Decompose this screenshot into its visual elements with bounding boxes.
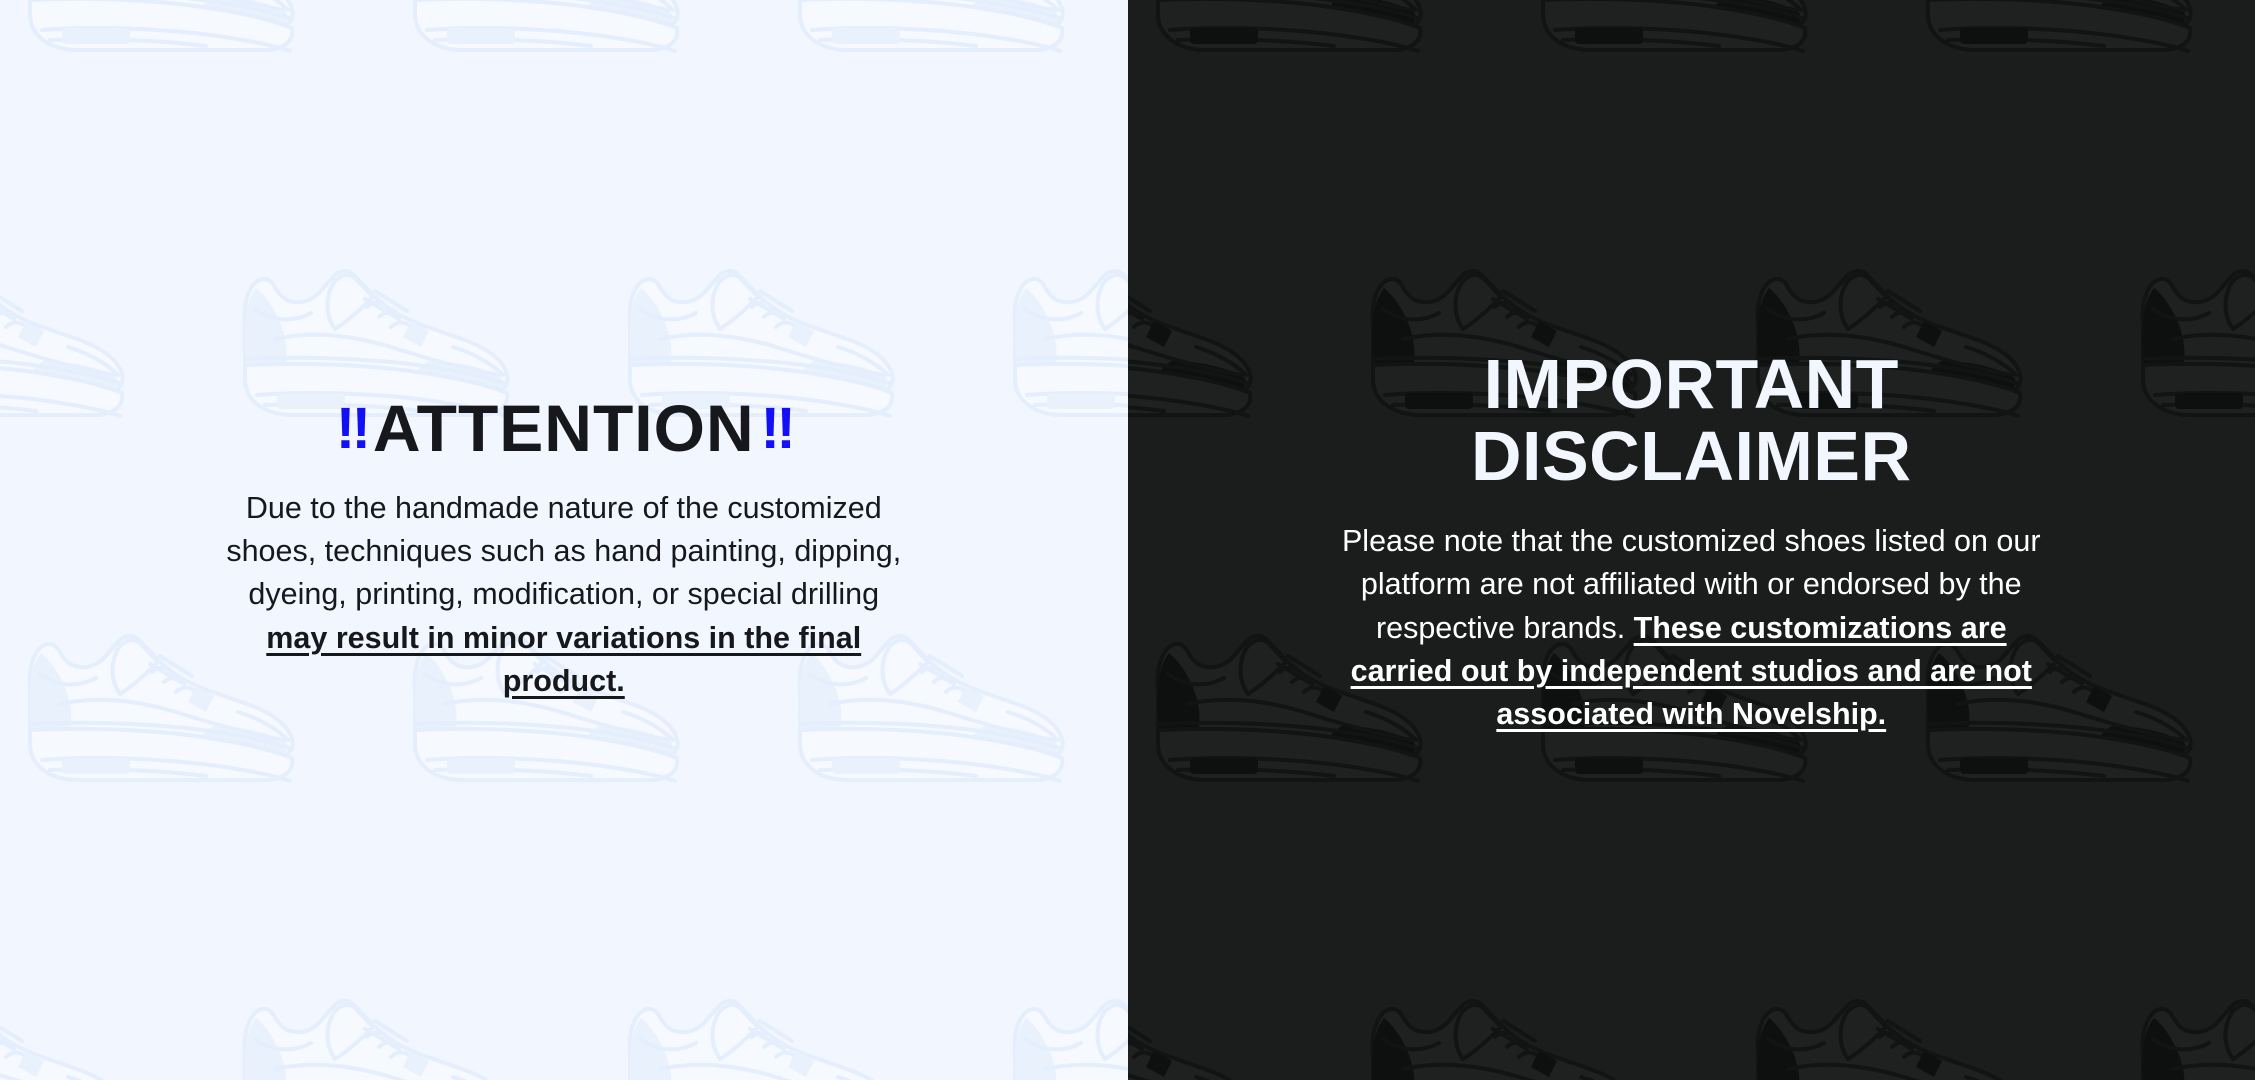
attention-heading: ‼ATTENTION‼: [0, 395, 1128, 461]
disclaimer-content: IMPORTANT DISCLAIMER Please note that th…: [1128, 343, 2255, 736]
attention-body: Due to the handmade nature of the custom…: [214, 487, 914, 703]
sneaker-icon: [770, 0, 1100, 85]
disclaimer-heading: IMPORTANT DISCLAIMER: [1371, 349, 2011, 492]
sneaker-icon: [215, 965, 545, 1080]
disclaimer-heading-line2: DISCLAIMER: [1471, 417, 1912, 495]
double-exclamation-icon-left: ‼: [330, 396, 373, 461]
attention-content: ‼ATTENTION‼ Due to the handmade nature o…: [0, 377, 1128, 703]
sneaker-icon: [985, 965, 1128, 1080]
disclaimer-heading-line1: IMPORTANT: [1484, 345, 1899, 423]
sneaker-icon: [2113, 965, 2255, 1080]
customization-notice-banner: ‼ATTENTION‼ Due to the handmade nature o…: [0, 0, 2255, 1080]
attention-heading-text: ATTENTION: [373, 391, 755, 465]
sneaker-icon: [600, 965, 930, 1080]
attention-panel: ‼ATTENTION‼ Due to the handmade nature o…: [0, 0, 1128, 1080]
sneaker-icon: [1898, 0, 2228, 85]
sneaker-icon: [1128, 965, 1288, 1080]
sneaker-icon: [0, 0, 330, 85]
double-exclamation-icon-right: ‼: [755, 396, 798, 461]
disclaimer-panel: IMPORTANT DISCLAIMER Please note that th…: [1128, 0, 2255, 1080]
sneaker-icon: [0, 965, 160, 1080]
attention-body-plain: Due to the handmade nature of the custom…: [226, 491, 901, 612]
disclaimer-body: Please note that the customized shoes li…: [1331, 520, 2051, 736]
sneaker-icon: [1728, 965, 2058, 1080]
sneaker-icon: [1513, 0, 1843, 85]
sneaker-icon: [1128, 0, 1458, 85]
sneaker-icon: [385, 0, 715, 85]
sneaker-icon: [1343, 965, 1673, 1080]
attention-body-emphasis: may result in minor variations in the fi…: [266, 621, 861, 698]
